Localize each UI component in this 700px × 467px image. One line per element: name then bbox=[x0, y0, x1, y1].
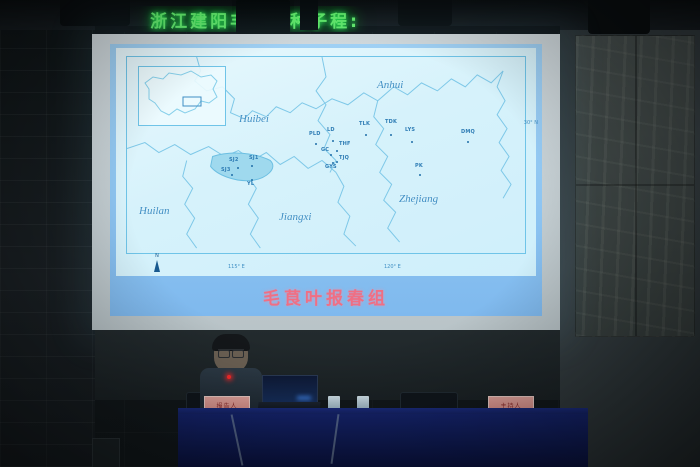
site-label-gys: GYS bbox=[325, 164, 337, 170]
carved-stone-relief-panel bbox=[575, 35, 695, 337]
site-label-dmq: DMQ bbox=[461, 129, 475, 135]
site-dot-thf bbox=[336, 150, 338, 152]
projection-screen: Anhui Huibei Huilan Jiangxi Zhejiang PLD… bbox=[92, 34, 560, 330]
site-dot-gc bbox=[330, 154, 332, 156]
lecture-hall-photo: 浙江建阳丰……种子程: bbox=[0, 0, 700, 467]
site-dot-tjq bbox=[336, 161, 338, 163]
site-label-sj3: SJ3 bbox=[221, 167, 231, 173]
north-arrow-label: N bbox=[154, 253, 160, 259]
banner-occluder-fixture bbox=[236, 0, 290, 34]
left-wall bbox=[0, 0, 95, 467]
laser-pointer-dot bbox=[227, 375, 231, 379]
site-label-tlk: TLK bbox=[359, 121, 370, 127]
site-label-sj2: SJ2 bbox=[229, 157, 239, 163]
site-dot-gys bbox=[332, 162, 334, 164]
province-label-jiangxi: Jiangxi bbox=[279, 211, 311, 223]
site-dot-sj1 bbox=[251, 165, 253, 167]
presenter-glasses bbox=[218, 349, 244, 356]
laptop-screen bbox=[262, 375, 318, 405]
map-frame: Anhui Huibei Huilan Jiangxi Zhejiang PLD… bbox=[126, 56, 526, 254]
china-inset-outline bbox=[139, 67, 225, 125]
floor-equipment-box bbox=[92, 438, 120, 467]
province-label-anhui: Anhui bbox=[377, 79, 403, 91]
site-label-tjq: TJQ bbox=[339, 155, 349, 161]
north-arrow-triangle bbox=[154, 260, 160, 272]
north-arrow: N bbox=[154, 253, 160, 272]
map-image: Anhui Huibei Huilan Jiangxi Zhejiang PLD… bbox=[116, 48, 536, 276]
site-label-pld: PLD bbox=[309, 131, 321, 137]
site-dot-dmq bbox=[467, 141, 469, 143]
site-dot-pld bbox=[315, 143, 317, 145]
china-inset-map bbox=[138, 66, 226, 126]
site-dot-sj2 bbox=[237, 167, 239, 169]
axis-tick-30n: 30° N bbox=[524, 120, 538, 126]
site-dot-yl bbox=[251, 179, 253, 181]
left-wall-brick-texture bbox=[0, 0, 95, 467]
province-label-zhejiang: Zhejiang bbox=[399, 193, 438, 205]
slide-title: 毛茛叶报春组 bbox=[110, 284, 542, 309]
site-dot-ld bbox=[332, 140, 334, 142]
highlighted-study-area bbox=[211, 153, 273, 181]
site-label-yl: YL bbox=[247, 181, 254, 187]
province-label-huilan: Huilan bbox=[139, 205, 170, 217]
laptop-screen-glow bbox=[297, 396, 311, 400]
site-dot-tlk bbox=[365, 134, 367, 136]
site-label-gc: GC bbox=[321, 147, 329, 153]
axis-tick-120e: 120° E bbox=[384, 264, 401, 270]
presentation-slide: Anhui Huibei Huilan Jiangxi Zhejiang PLD… bbox=[110, 44, 542, 316]
ceiling-fixture-right bbox=[398, 0, 452, 26]
site-label-tdk: TDK bbox=[385, 119, 397, 125]
banner-occluder-bracket bbox=[300, 0, 318, 30]
site-label-lys: LYS bbox=[405, 127, 415, 133]
foreground-wall-band bbox=[95, 330, 560, 400]
site-label-sj1: SJ1 bbox=[249, 155, 259, 161]
axis-tick-115e: 115° E bbox=[228, 264, 245, 270]
site-label-thf: THF bbox=[339, 141, 351, 147]
site-dot-sj3 bbox=[231, 174, 233, 176]
site-dot-lys bbox=[411, 141, 413, 143]
province-label-huibei: Huibei bbox=[239, 113, 269, 125]
site-dot-pk bbox=[419, 174, 421, 176]
site-dot-tdk bbox=[390, 134, 392, 136]
ceiling-fixture-far-right bbox=[588, 0, 650, 34]
relief-panel-grid bbox=[576, 36, 694, 336]
site-label-ld: LD bbox=[327, 127, 335, 133]
site-label-pk: PK bbox=[415, 163, 423, 169]
